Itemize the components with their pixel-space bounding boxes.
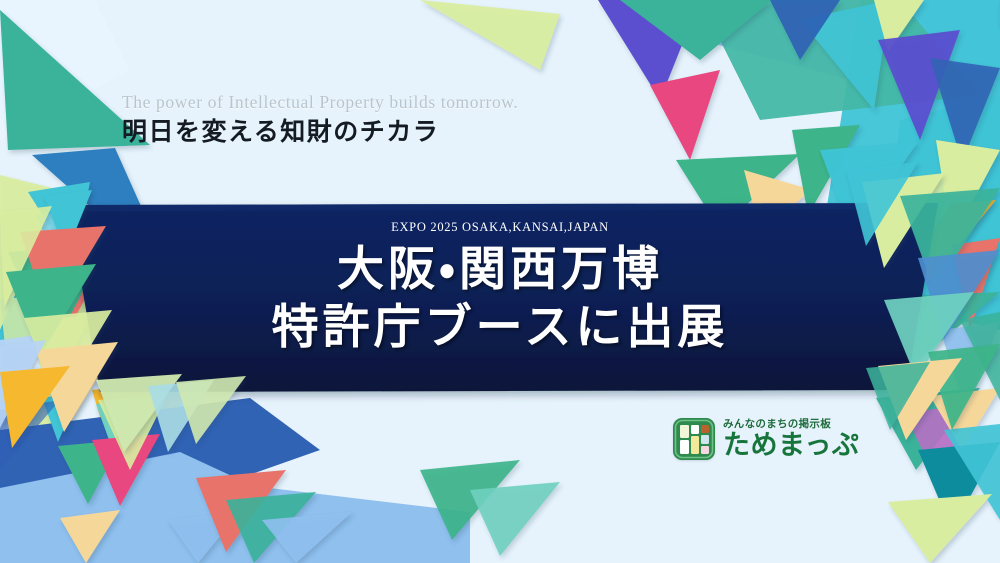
logo-tile-1 (691, 425, 699, 434)
tagline-english: The power of Intellectual Property build… (122, 92, 642, 113)
headline-line-1: 大阪・関西万博 (272, 243, 729, 297)
banner-headline: 大阪・関西万博 特許庁ブースに出展 (272, 235, 729, 355)
logo-tile-4 (691, 436, 699, 454)
logo-tile-6 (701, 446, 709, 454)
expo-eyebrow-label: EXPO 2025 OSAKA,KANSAI,JAPAN (391, 220, 609, 235)
tamemap-logo-text: みんなのまちの掲示板 ためまっぷ (723, 419, 859, 460)
logo-tile-5 (701, 435, 709, 444)
headline-line-2: 特許庁ブースに出展 (272, 301, 729, 355)
logo-subtitle: みんなのまちの掲示板 (723, 419, 859, 430)
logo-tile-3 (680, 440, 689, 454)
poster-canvas: The power of Intellectual Property build… (0, 0, 1000, 563)
tamemap-bulletin-board-icon (673, 418, 715, 460)
tagline-japanese: 明日を変える知財のチカラ (122, 115, 642, 149)
banner-text-block: EXPO 2025 OSAKA,KANSAI,JAPAN 大阪・関西万博 特許庁… (0, 206, 1000, 390)
tagline-block: The power of Intellectual Property build… (122, 92, 642, 149)
logo-name: ためまっぷ (723, 432, 859, 459)
logo-tile-2 (701, 425, 709, 433)
logo-tile-0 (680, 425, 689, 438)
tamemap-logo-lockup[interactable]: みんなのまちの掲示板 ためまっぷ (673, 418, 859, 460)
